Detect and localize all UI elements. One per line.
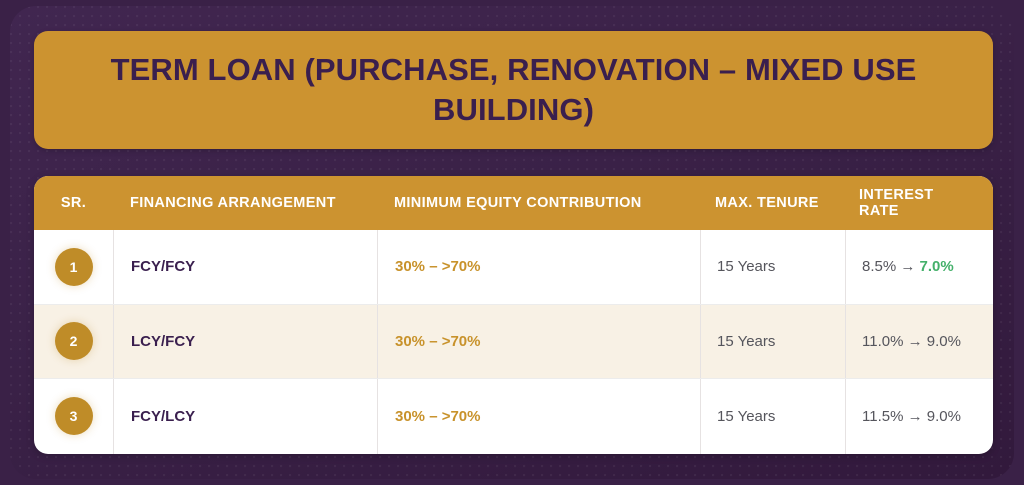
page-root: TERM LOAN (PURCHASE, RENOVATION – MIXED … bbox=[10, 6, 1014, 479]
serial-badge: 3 bbox=[55, 397, 93, 435]
financing-arrangement-value: FCY/LCY bbox=[130, 408, 195, 425]
row-financing-cell: FCY/FCY bbox=[113, 230, 377, 304]
title-banner: TERM LOAN (PURCHASE, RENOVATION – MIXED … bbox=[34, 31, 993, 149]
financing-arrangement-value: LCY/FCY bbox=[130, 333, 195, 350]
serial-badge: 1 bbox=[55, 248, 93, 286]
column-header-interest-rate: INTEREST RATE bbox=[845, 176, 993, 230]
row-serial-cell: 3 bbox=[34, 379, 113, 454]
rate-arrow-icon: → bbox=[908, 408, 923, 425]
max-tenure-value: 15 Years bbox=[717, 333, 775, 350]
rate-from: 8.5% bbox=[862, 258, 896, 275]
row-serial-cell: 2 bbox=[34, 305, 113, 379]
row-equity-cell: 30% – >70% bbox=[377, 305, 700, 379]
column-header-sr: SR. bbox=[34, 176, 113, 230]
max-tenure-value: 15 Years bbox=[717, 258, 775, 275]
table-row: 2 LCY/FCY 30% – >70% 15 Years 11.0% → 9.… bbox=[34, 305, 993, 380]
interest-rate-value: 8.5% → 7.0% bbox=[862, 258, 954, 275]
column-header-max-tenure: MAX. TENURE bbox=[700, 176, 845, 230]
column-header-financing-arrangement: FINANCING ARRANGEMENT bbox=[113, 176, 377, 230]
row-rate-cell: 8.5% → 7.0% bbox=[845, 230, 993, 304]
row-equity-cell: 30% – >70% bbox=[377, 230, 700, 304]
interest-rate-value: 11.0% → 9.0% bbox=[862, 333, 961, 350]
rates-table: SR. FINANCING ARRANGEMENT MINIMUM EQUITY… bbox=[34, 176, 993, 454]
rate-arrow-icon: → bbox=[900, 258, 915, 275]
row-tenure-cell: 15 Years bbox=[700, 379, 845, 454]
rate-to: 9.0% bbox=[927, 333, 961, 350]
column-header-minimum-equity-contribution: MINIMUM EQUITY CONTRIBUTION bbox=[377, 176, 700, 230]
rate-from: 11.0% bbox=[862, 333, 903, 350]
minimum-equity-value: 30% – >70% bbox=[394, 333, 480, 350]
rate-arrow-icon: → bbox=[908, 333, 923, 350]
rate-from: 11.5% bbox=[862, 408, 903, 425]
row-equity-cell: 30% – >70% bbox=[377, 379, 700, 454]
rate-to: 7.0% bbox=[920, 258, 954, 275]
table-row: 3 FCY/LCY 30% – >70% 15 Years 11.5% → 9.… bbox=[34, 379, 993, 454]
rate-to: 9.0% bbox=[927, 408, 961, 425]
minimum-equity-value: 30% – >70% bbox=[394, 258, 480, 275]
row-rate-cell: 11.0% → 9.0% bbox=[845, 305, 993, 379]
serial-badge: 2 bbox=[55, 322, 93, 360]
minimum-equity-value: 30% – >70% bbox=[394, 408, 480, 425]
row-financing-cell: FCY/LCY bbox=[113, 379, 377, 454]
table-row: 1 FCY/FCY 30% – >70% 15 Years 8.5% → 7.0… bbox=[34, 230, 993, 305]
row-serial-cell: 1 bbox=[34, 230, 113, 304]
interest-rate-value: 11.5% → 9.0% bbox=[862, 408, 961, 425]
max-tenure-value: 15 Years bbox=[717, 408, 775, 425]
row-rate-cell: 11.5% → 9.0% bbox=[845, 379, 993, 454]
row-tenure-cell: 15 Years bbox=[700, 305, 845, 379]
row-financing-cell: LCY/FCY bbox=[113, 305, 377, 379]
page-title: TERM LOAN (PURCHASE, RENOVATION – MIXED … bbox=[68, 50, 959, 129]
table-header-row: SR. FINANCING ARRANGEMENT MINIMUM EQUITY… bbox=[34, 176, 993, 230]
row-tenure-cell: 15 Years bbox=[700, 230, 845, 304]
financing-arrangement-value: FCY/FCY bbox=[130, 258, 195, 275]
